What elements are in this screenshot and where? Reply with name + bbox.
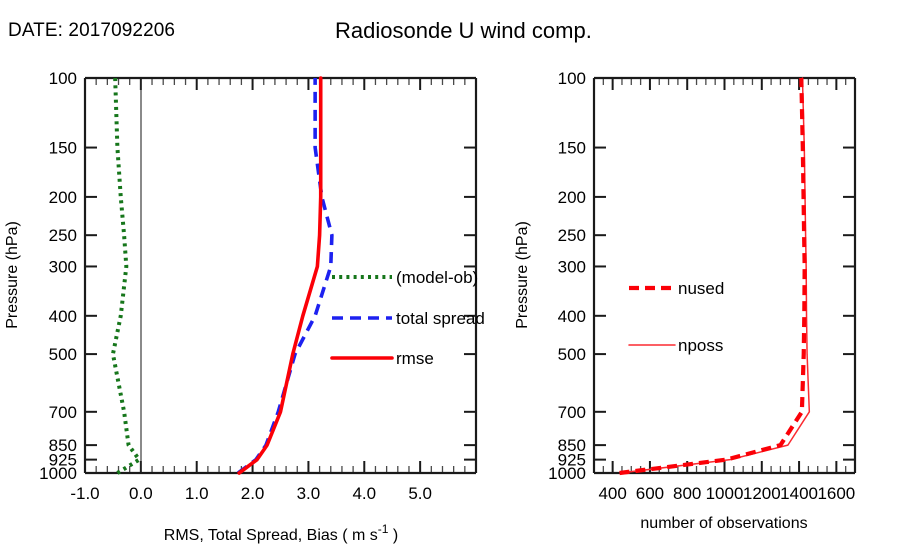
left-panel-x-axis-title: RMS, Total Spread, Bias ( m s-1 ) — [164, 522, 398, 544]
y-tick-label: 200 — [49, 188, 77, 207]
x-axis-title-post: ) — [388, 527, 398, 544]
y-tick-label: 150 — [558, 139, 586, 158]
right-panel-legend: nused nposs — [629, 279, 724, 355]
legend-label-nposs: nposs — [678, 336, 723, 355]
x-tick-label: 0.0 — [129, 484, 153, 503]
right-panel-x-ticklabels: 4006008001000120014001600 — [598, 484, 855, 503]
legend-label-bias: (model-ob) — [396, 268, 478, 287]
y-tick-label: 400 — [49, 307, 77, 326]
x-tick-label: 2.0 — [241, 484, 265, 503]
x-tick-label: 1200 — [743, 484, 781, 503]
x-axis-title-sup: -1 — [378, 522, 389, 536]
series-nused-line — [620, 78, 805, 473]
y-tick-label: 700 — [49, 403, 77, 422]
x-axis-title-pre: RMS, Total Spread, Bias ( m s — [164, 527, 378, 544]
y-tick-label: 500 — [558, 345, 586, 364]
left-panel-y-axis-title: Pressure (hPa) — [4, 221, 21, 329]
left-panel-y-ticklabels: 1001502002503004005007008509251000 — [39, 69, 77, 483]
series-total-spread-line — [238, 78, 332, 473]
left-panel: 1001502002503004005007008509251000 -1.00… — [4, 69, 485, 544]
x-tick-label: 1.0 — [185, 484, 209, 503]
plot-canvas: 1001502002503004005007008509251000 -1.00… — [0, 0, 900, 560]
y-tick-label: 100 — [558, 69, 586, 88]
y-tick-label: 700 — [558, 403, 586, 422]
y-tick-label: 300 — [49, 257, 77, 276]
right-panel-x-axis-title: number of observations — [640, 515, 807, 532]
series-rmse-line — [239, 78, 321, 473]
x-tick-label: 1400 — [780, 484, 818, 503]
right-panel-ticks — [594, 78, 855, 473]
series-bias-line — [113, 78, 139, 473]
right-panel-y-axis-title: Pressure (hPa) — [514, 221, 531, 329]
x-tick-label: -1.0 — [70, 484, 99, 503]
legend-label-rmse: rmse — [396, 349, 434, 368]
y-tick-label: 400 — [558, 307, 586, 326]
x-tick-label: 1000 — [706, 484, 744, 503]
y-tick-label: 250 — [558, 226, 586, 245]
legend-label-total-spread: total spread — [396, 309, 485, 328]
x-tick-label: 3.0 — [297, 484, 321, 503]
y-tick-label: 250 — [49, 226, 77, 245]
right-panel: 1001502002503004005007008509251000 40060… — [514, 69, 855, 532]
series-nposs-line — [620, 78, 809, 473]
figure-root: DATE: 2017092206 Radiosonde U wind comp.… — [0, 0, 900, 560]
y-tick-label: 100 — [49, 69, 77, 88]
y-tick-label: 300 — [558, 257, 586, 276]
x-tick-label: 600 — [636, 484, 664, 503]
y-tick-label: 1000 — [39, 464, 77, 483]
left-panel-legend: (model-ob) total spread rmse — [332, 268, 485, 368]
y-tick-label: 1000 — [548, 464, 586, 483]
x-tick-label: 4.0 — [352, 484, 376, 503]
left-panel-x-ticklabels: -1.00.01.02.03.04.05.0 — [70, 484, 432, 503]
y-tick-label: 200 — [558, 188, 586, 207]
y-tick-label: 150 — [49, 139, 77, 158]
right-panel-frame — [594, 78, 855, 473]
y-tick-label: 500 — [49, 345, 77, 364]
x-tick-label: 5.0 — [408, 484, 432, 503]
legend-label-nused: nused — [678, 279, 724, 298]
x-tick-label: 800 — [673, 484, 701, 503]
x-tick-label: 1600 — [817, 484, 855, 503]
right-panel-y-ticklabels: 1001502002503004005007008509251000 — [548, 69, 586, 483]
x-tick-label: 400 — [598, 484, 626, 503]
